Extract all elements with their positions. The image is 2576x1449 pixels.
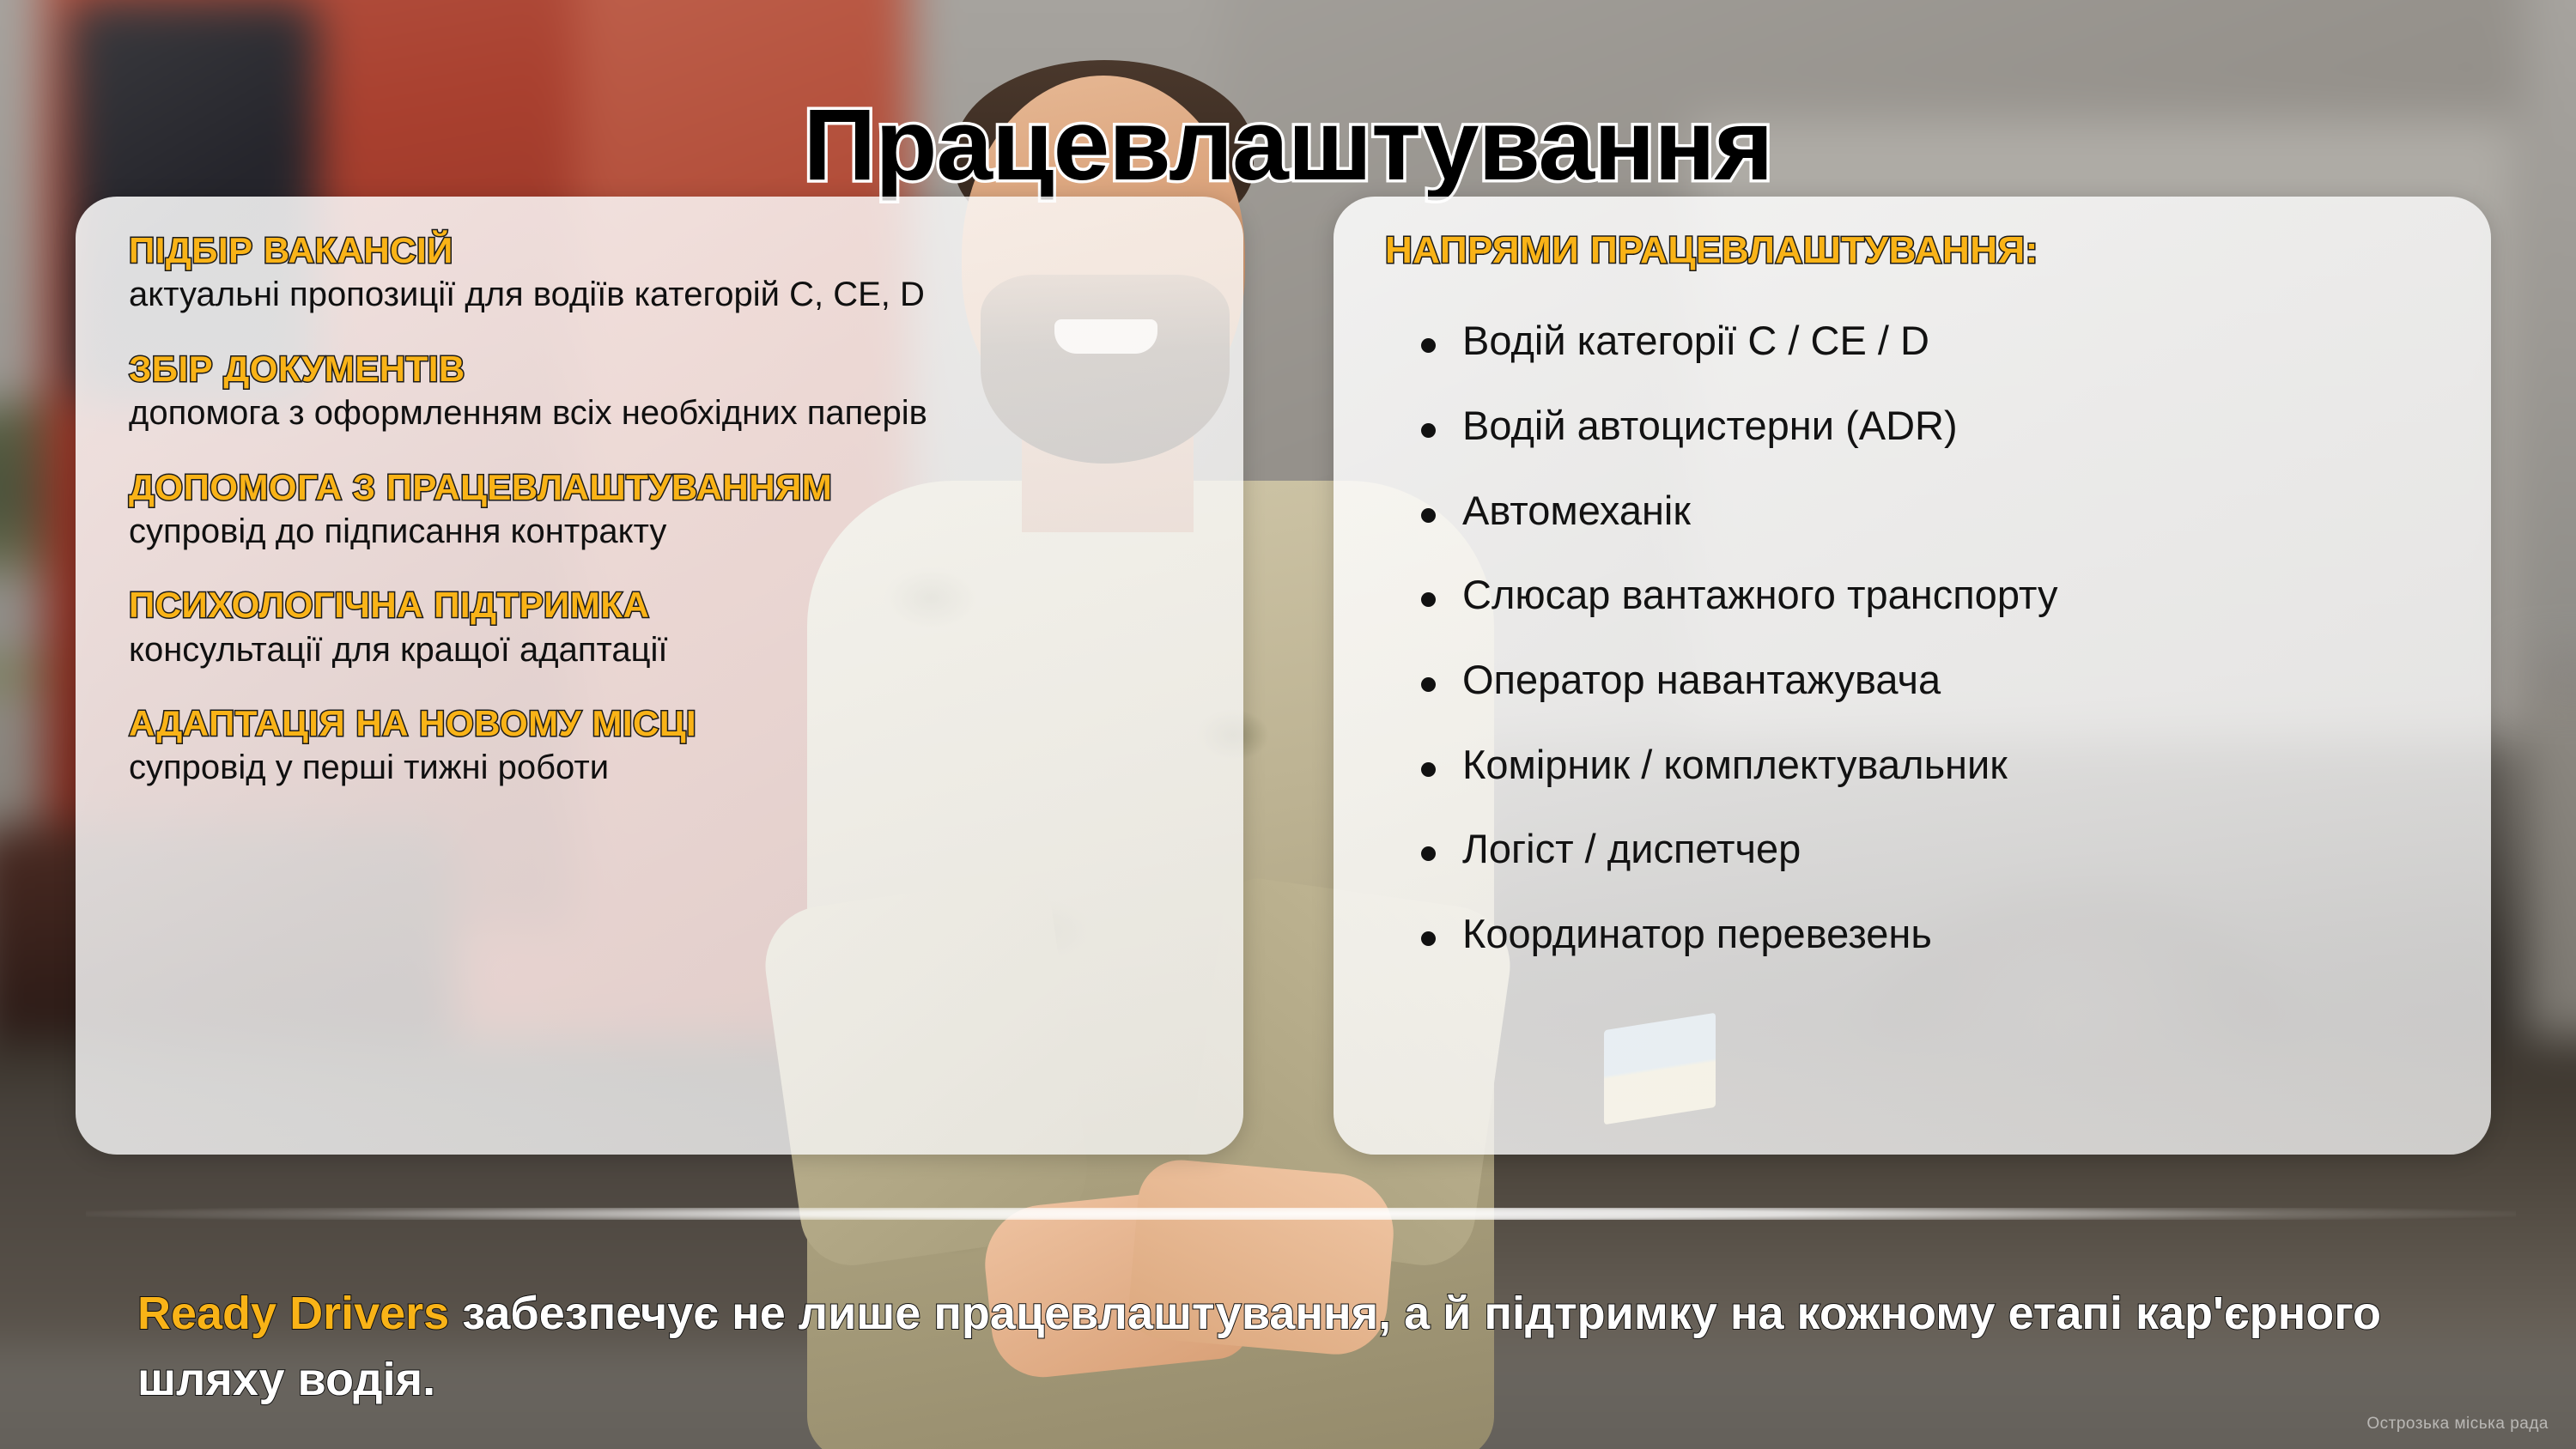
- footer-statement: Ready Drivers забезпечує не лише працевл…: [137, 1281, 2387, 1412]
- list-item: Логіст / диспетчер: [1421, 827, 2448, 871]
- list-item: Координатор перевезень: [1421, 912, 2448, 956]
- page-title: Працевлаштування: [0, 87, 2576, 203]
- list-item: Оператор навантажувача: [1421, 658, 2448, 702]
- service-description: консультації для кращої адаптації: [129, 630, 1200, 670]
- service-item: АДАПТАЦІЯ НА НОВОМУ МІСЦІ супровід у пер…: [129, 704, 1200, 788]
- service-title: ПСИХОЛОГІЧНА ПІДТРИМКА: [129, 585, 1200, 624]
- list-item: Слюсар вантажного транспорту: [1421, 573, 2448, 617]
- service-description: супровід у перші тижні роботи: [129, 748, 1200, 787]
- list-item: Водій категорії C / CE / D: [1421, 318, 2448, 363]
- list-item: Комірник / комплектувальник: [1421, 743, 2448, 787]
- service-item: ЗБІР ДОКУМЕНТІВ допомога з оформленням в…: [129, 349, 1200, 433]
- footer-text: забезпечує не лише працевлаштування, а й…: [137, 1288, 2381, 1405]
- section-divider: [86, 1208, 2516, 1220]
- service-title: ПІДБІР ВАКАНСІЙ: [129, 231, 1200, 270]
- brand-name: Ready Drivers: [137, 1288, 449, 1339]
- service-description: супровід до підписання контракту: [129, 512, 1200, 551]
- job-list: Водій категорії C / CE / D Водій автоцис…: [1385, 318, 2448, 956]
- job-directions-heading: НАПРЯМИ ПРАЦЕВЛАШТУВАННЯ:: [1385, 231, 2448, 270]
- job-directions-panel: НАПРЯМИ ПРАЦЕВЛАШТУВАННЯ: Водій категорі…: [1334, 197, 2491, 1155]
- service-item: ДОПОМОГА З ПРАЦЕВЛАШТУВАННЯМ супровід до…: [129, 468, 1200, 552]
- service-description: допомога з оформленням всіх необхідних п…: [129, 393, 1200, 433]
- slide-root: Працевлаштування ПІДБІР ВАКАНСІЙ актуаль…: [0, 0, 2576, 1449]
- service-item: ПІДБІР ВАКАНСІЙ актуальні пропозиції для…: [129, 231, 1200, 315]
- list-item: Водій автоцистерни (ADR): [1421, 403, 2448, 448]
- list-item: Автомеханік: [1421, 488, 2448, 533]
- service-title: АДАПТАЦІЯ НА НОВОМУ МІСЦІ: [129, 704, 1200, 743]
- service-item: ПСИХОЛОГІЧНА ПІДТРИМКА консультації для …: [129, 585, 1200, 670]
- service-title: ДОПОМОГА З ПРАЦЕВЛАШТУВАННЯМ: [129, 468, 1200, 506]
- watermark: Острозька міська рада: [2366, 1415, 2549, 1434]
- services-panel: ПІДБІР ВАКАНСІЙ актуальні пропозиції для…: [76, 197, 1243, 1155]
- service-description: актуальні пропозиції для водіїв категорі…: [129, 275, 1200, 314]
- service-title: ЗБІР ДОКУМЕНТІВ: [129, 349, 1200, 388]
